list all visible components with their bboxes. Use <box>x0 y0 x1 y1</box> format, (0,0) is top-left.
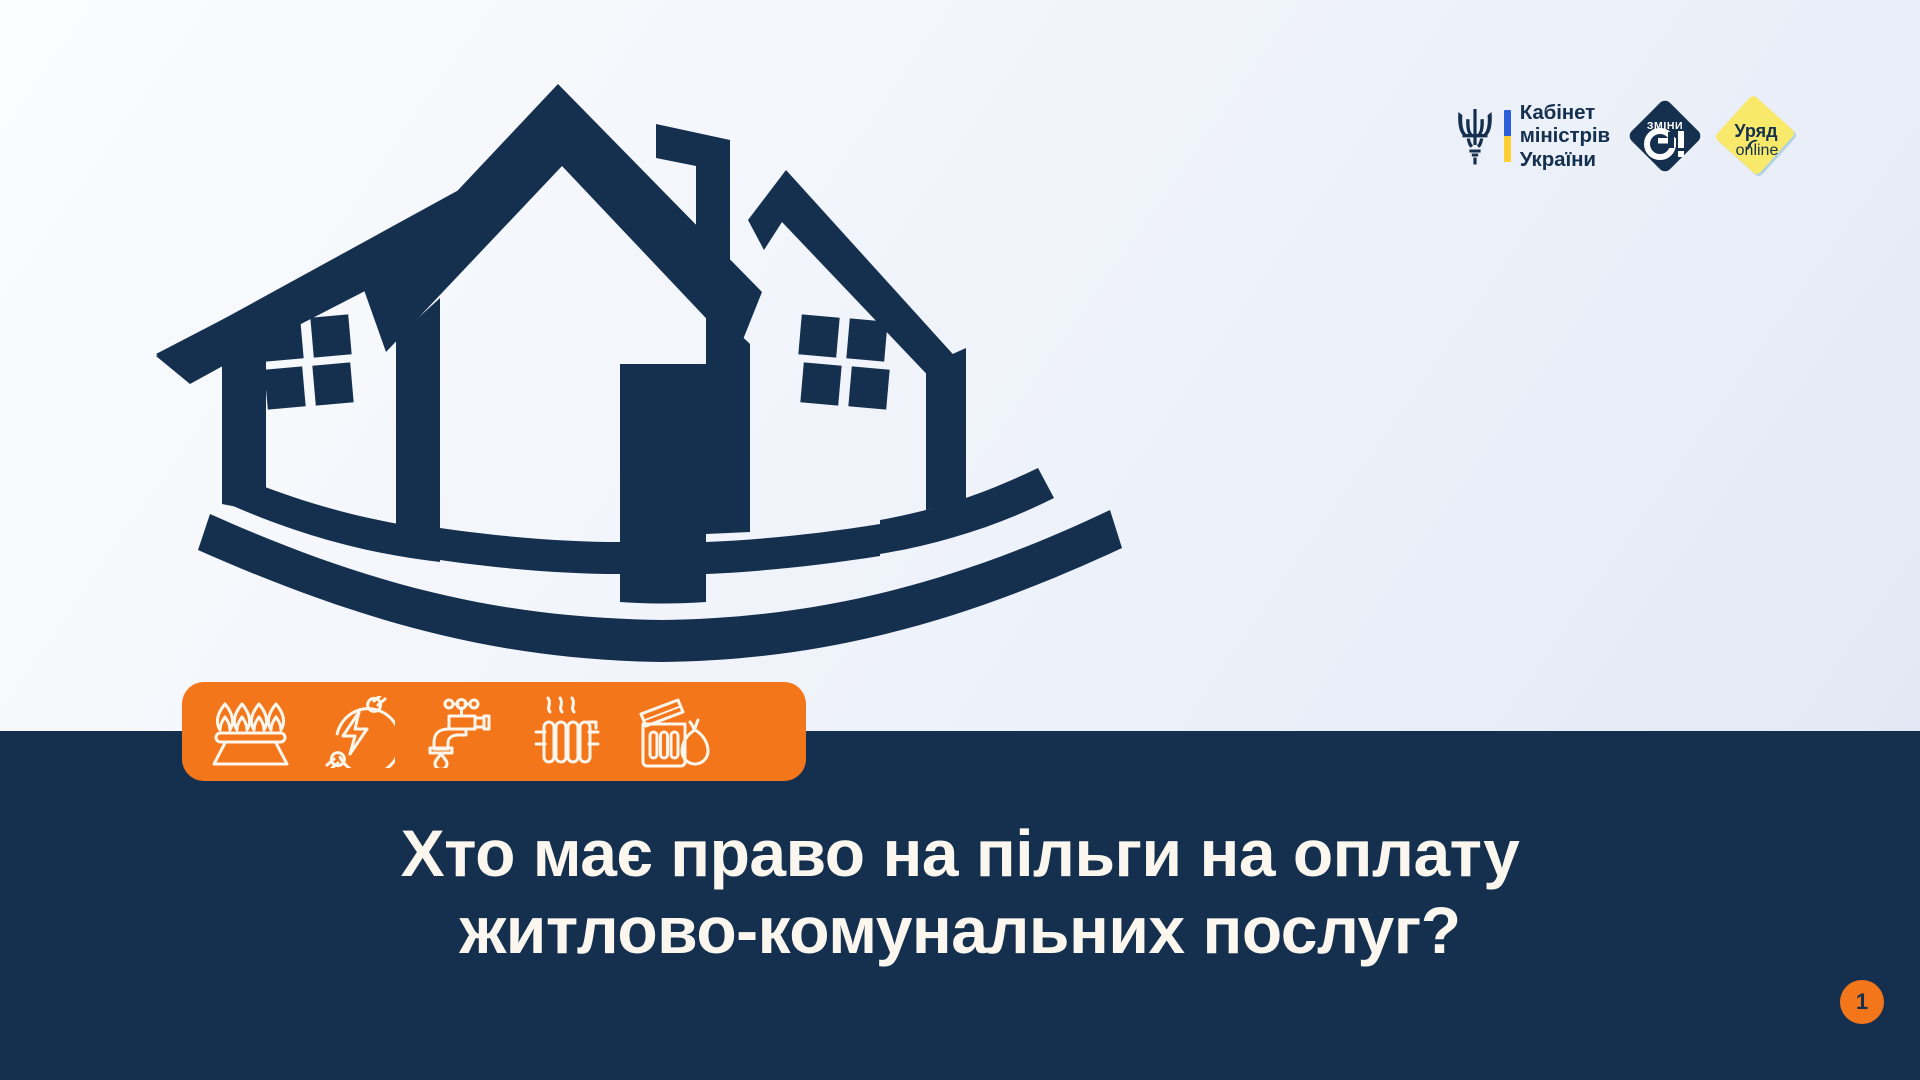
three-houses-illustration <box>150 62 1180 662</box>
zminy-ye-logo: ЗМІНИ <box>1624 95 1706 177</box>
electricity-icon <box>314 696 398 768</box>
waste-bin-icon <box>632 696 716 768</box>
cabinet-of-ministers-label: Кабінет міністрів України <box>1520 101 1610 171</box>
cmu-line-3: України <box>1520 148 1610 171</box>
cmu-line-1: Кабінет <box>1520 101 1610 124</box>
uryad-online-logo: Уряд online <box>1710 90 1802 182</box>
flag-divider <box>1504 110 1511 162</box>
utility-services-strip <box>182 682 806 781</box>
water-tap-icon <box>420 696 504 768</box>
uryad-line-2: online <box>1736 142 1779 159</box>
page-title: Хто має право на пільги на оплату житлов… <box>130 815 1790 969</box>
page-title-line-2: житлово-комунальних послуг? <box>130 892 1790 969</box>
cmu-line-2: міністрів <box>1520 124 1610 147</box>
radiator-heating-icon <box>526 696 610 768</box>
page-title-line-1: Хто має право на пільги на оплату <box>130 815 1790 892</box>
gas-flame-icon <box>208 696 292 768</box>
logo-row: Кабінет міністрів України ЗМІНИ <box>1455 96 1802 176</box>
ukraine-trident-icon <box>1455 106 1495 166</box>
uryad-line-1: Уряд <box>1734 121 1778 141</box>
slide-root: Кабінет міністрів України ЗМІНИ <box>0 0 1920 1080</box>
cabinet-of-ministers-logo: Кабінет міністрів України <box>1455 101 1610 171</box>
page-number-badge: 1 <box>1840 980 1884 1024</box>
